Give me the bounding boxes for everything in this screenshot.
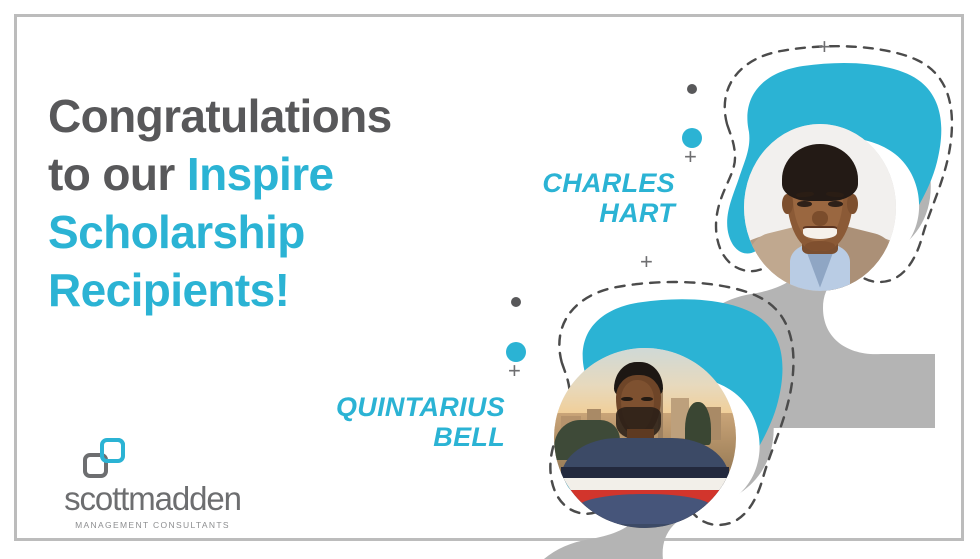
headline-line-3: Scholarship bbox=[48, 204, 468, 262]
headline-line-4-text: Recipients! bbox=[48, 264, 289, 316]
headline-line-2: to our Inspire bbox=[48, 146, 468, 204]
photo-sweater-stripe bbox=[561, 478, 728, 491]
headline-line-2-accent: Inspire bbox=[187, 148, 334, 200]
decorative-plus-left-icon: + bbox=[508, 360, 521, 382]
headline-line-2-plain: to our bbox=[48, 148, 187, 200]
headline-line-3-text: Scholarship bbox=[48, 206, 305, 258]
logo-wordmark: scottmadden bbox=[45, 482, 260, 515]
congratulations-poster: Congratulations to our Inspire Scholarsh… bbox=[0, 0, 980, 559]
recipient-last-name: HART bbox=[430, 198, 675, 228]
headline-line-1: Congratulations bbox=[48, 88, 468, 146]
logo-square-cyan-overlap-icon bbox=[112, 438, 125, 451]
headline-line-1-text: Congratulations bbox=[48, 90, 392, 142]
decorative-plus-top-icon: + bbox=[640, 251, 653, 273]
decorative-plus-left-icon: + bbox=[684, 146, 697, 168]
recipient-last-name: BELL bbox=[215, 422, 505, 452]
decorative-dot-dark-icon bbox=[511, 297, 521, 307]
photo-image-charles bbox=[744, 124, 896, 291]
photo-tree-right bbox=[685, 402, 710, 445]
photo-sweater-stripe bbox=[561, 467, 728, 478]
decorative-dot-dark-icon bbox=[687, 84, 697, 94]
recipient-photo-quintarius-bell bbox=[554, 348, 736, 528]
logo-tagline: MANAGEMENT CONSULTANTS bbox=[45, 520, 260, 530]
photo-ear-right bbox=[847, 194, 858, 214]
scottmadden-logo-mark-icon bbox=[83, 438, 125, 478]
photo-chin bbox=[805, 241, 835, 251]
headline-line-4: Recipients! bbox=[48, 262, 468, 320]
decorative-plus-top-icon: + bbox=[818, 36, 831, 58]
recipient-first-name: QUINTARIUS bbox=[215, 392, 505, 422]
recipient-name-quintarius-bell: QUINTARIUS BELL bbox=[215, 392, 505, 452]
page-title: Congratulations to our Inspire Scholarsh… bbox=[48, 88, 468, 320]
recipient-photo-charles-hart bbox=[744, 124, 896, 291]
photo-crossed-arms bbox=[576, 494, 714, 525]
photo-image-quintarius bbox=[554, 348, 736, 528]
photo-nose bbox=[812, 211, 827, 226]
recipient-name-charles-hart: CHARLES HART bbox=[430, 168, 675, 228]
recipient-first-name: CHARLES bbox=[430, 168, 675, 198]
